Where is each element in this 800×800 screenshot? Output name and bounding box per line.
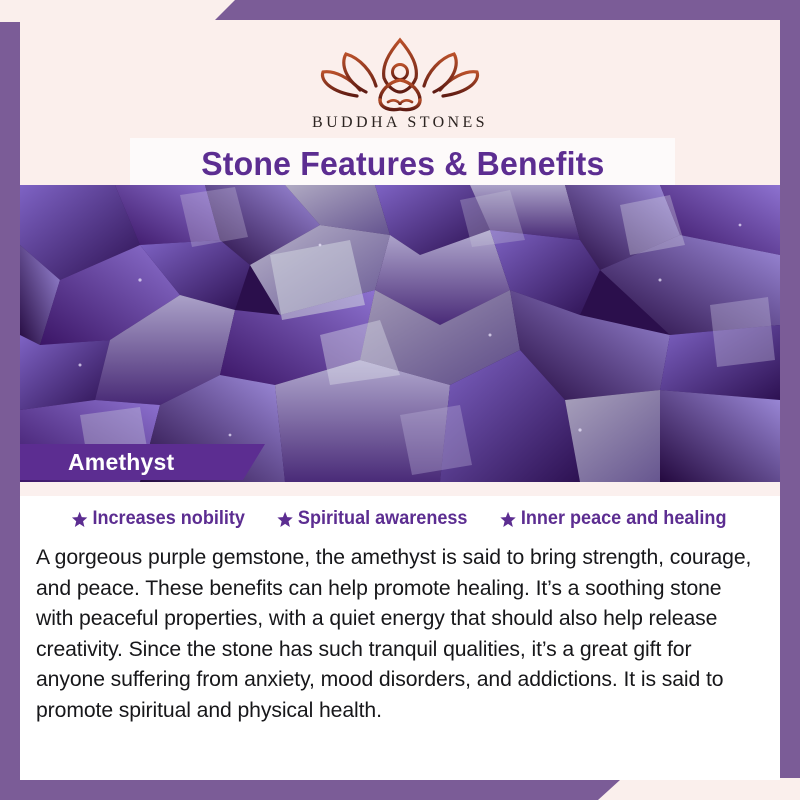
brand-name: BUDDHA STONES bbox=[312, 114, 488, 132]
stone-name-banner: Amethyst bbox=[20, 444, 265, 480]
frame-border-bottom bbox=[0, 780, 620, 800]
feature-list: Increases nobility Spiritual awareness I… bbox=[20, 508, 780, 530]
product-info-card: BUDDHA STONES Stone Features & Benefits bbox=[0, 0, 800, 800]
content-card: BUDDHA STONES Stone Features & Benefits bbox=[20, 20, 780, 780]
feature-item-3: Inner peace and healing bbox=[500, 508, 727, 530]
feature-item-1-label: Increases nobility bbox=[93, 508, 245, 530]
brand-header: BUDDHA STONES Stone Features & Benefits bbox=[20, 20, 780, 185]
frame-border-right bbox=[780, 0, 800, 800]
feature-item-3-label: Inner peace and healing bbox=[521, 508, 727, 530]
frame-corner-top-left-notch bbox=[0, 0, 20, 22]
feature-item-1: Increases nobility bbox=[72, 508, 245, 530]
photo-divider bbox=[20, 482, 780, 496]
feature-item-2: Spiritual awareness bbox=[277, 508, 467, 530]
frame-border-top bbox=[215, 0, 800, 20]
stone-name-label: Amethyst bbox=[68, 449, 174, 476]
feature-item-2-label: Spiritual awareness bbox=[298, 508, 468, 530]
star-icon bbox=[277, 511, 293, 528]
frame-border-left bbox=[0, 0, 20, 800]
stone-description: A gorgeous purple gemstone, the amethyst… bbox=[36, 542, 753, 725]
lotus-meditating-figure-logo bbox=[310, 32, 490, 112]
amethyst-crystal-photo: Amethyst bbox=[20, 185, 780, 482]
star-icon bbox=[72, 511, 88, 528]
page-title-plate: Stone Features & Benefits bbox=[130, 138, 675, 190]
star-icon bbox=[500, 511, 516, 528]
frame-corner-bottom-right-notch bbox=[780, 778, 800, 800]
page-title: Stone Features & Benefits bbox=[201, 145, 604, 183]
